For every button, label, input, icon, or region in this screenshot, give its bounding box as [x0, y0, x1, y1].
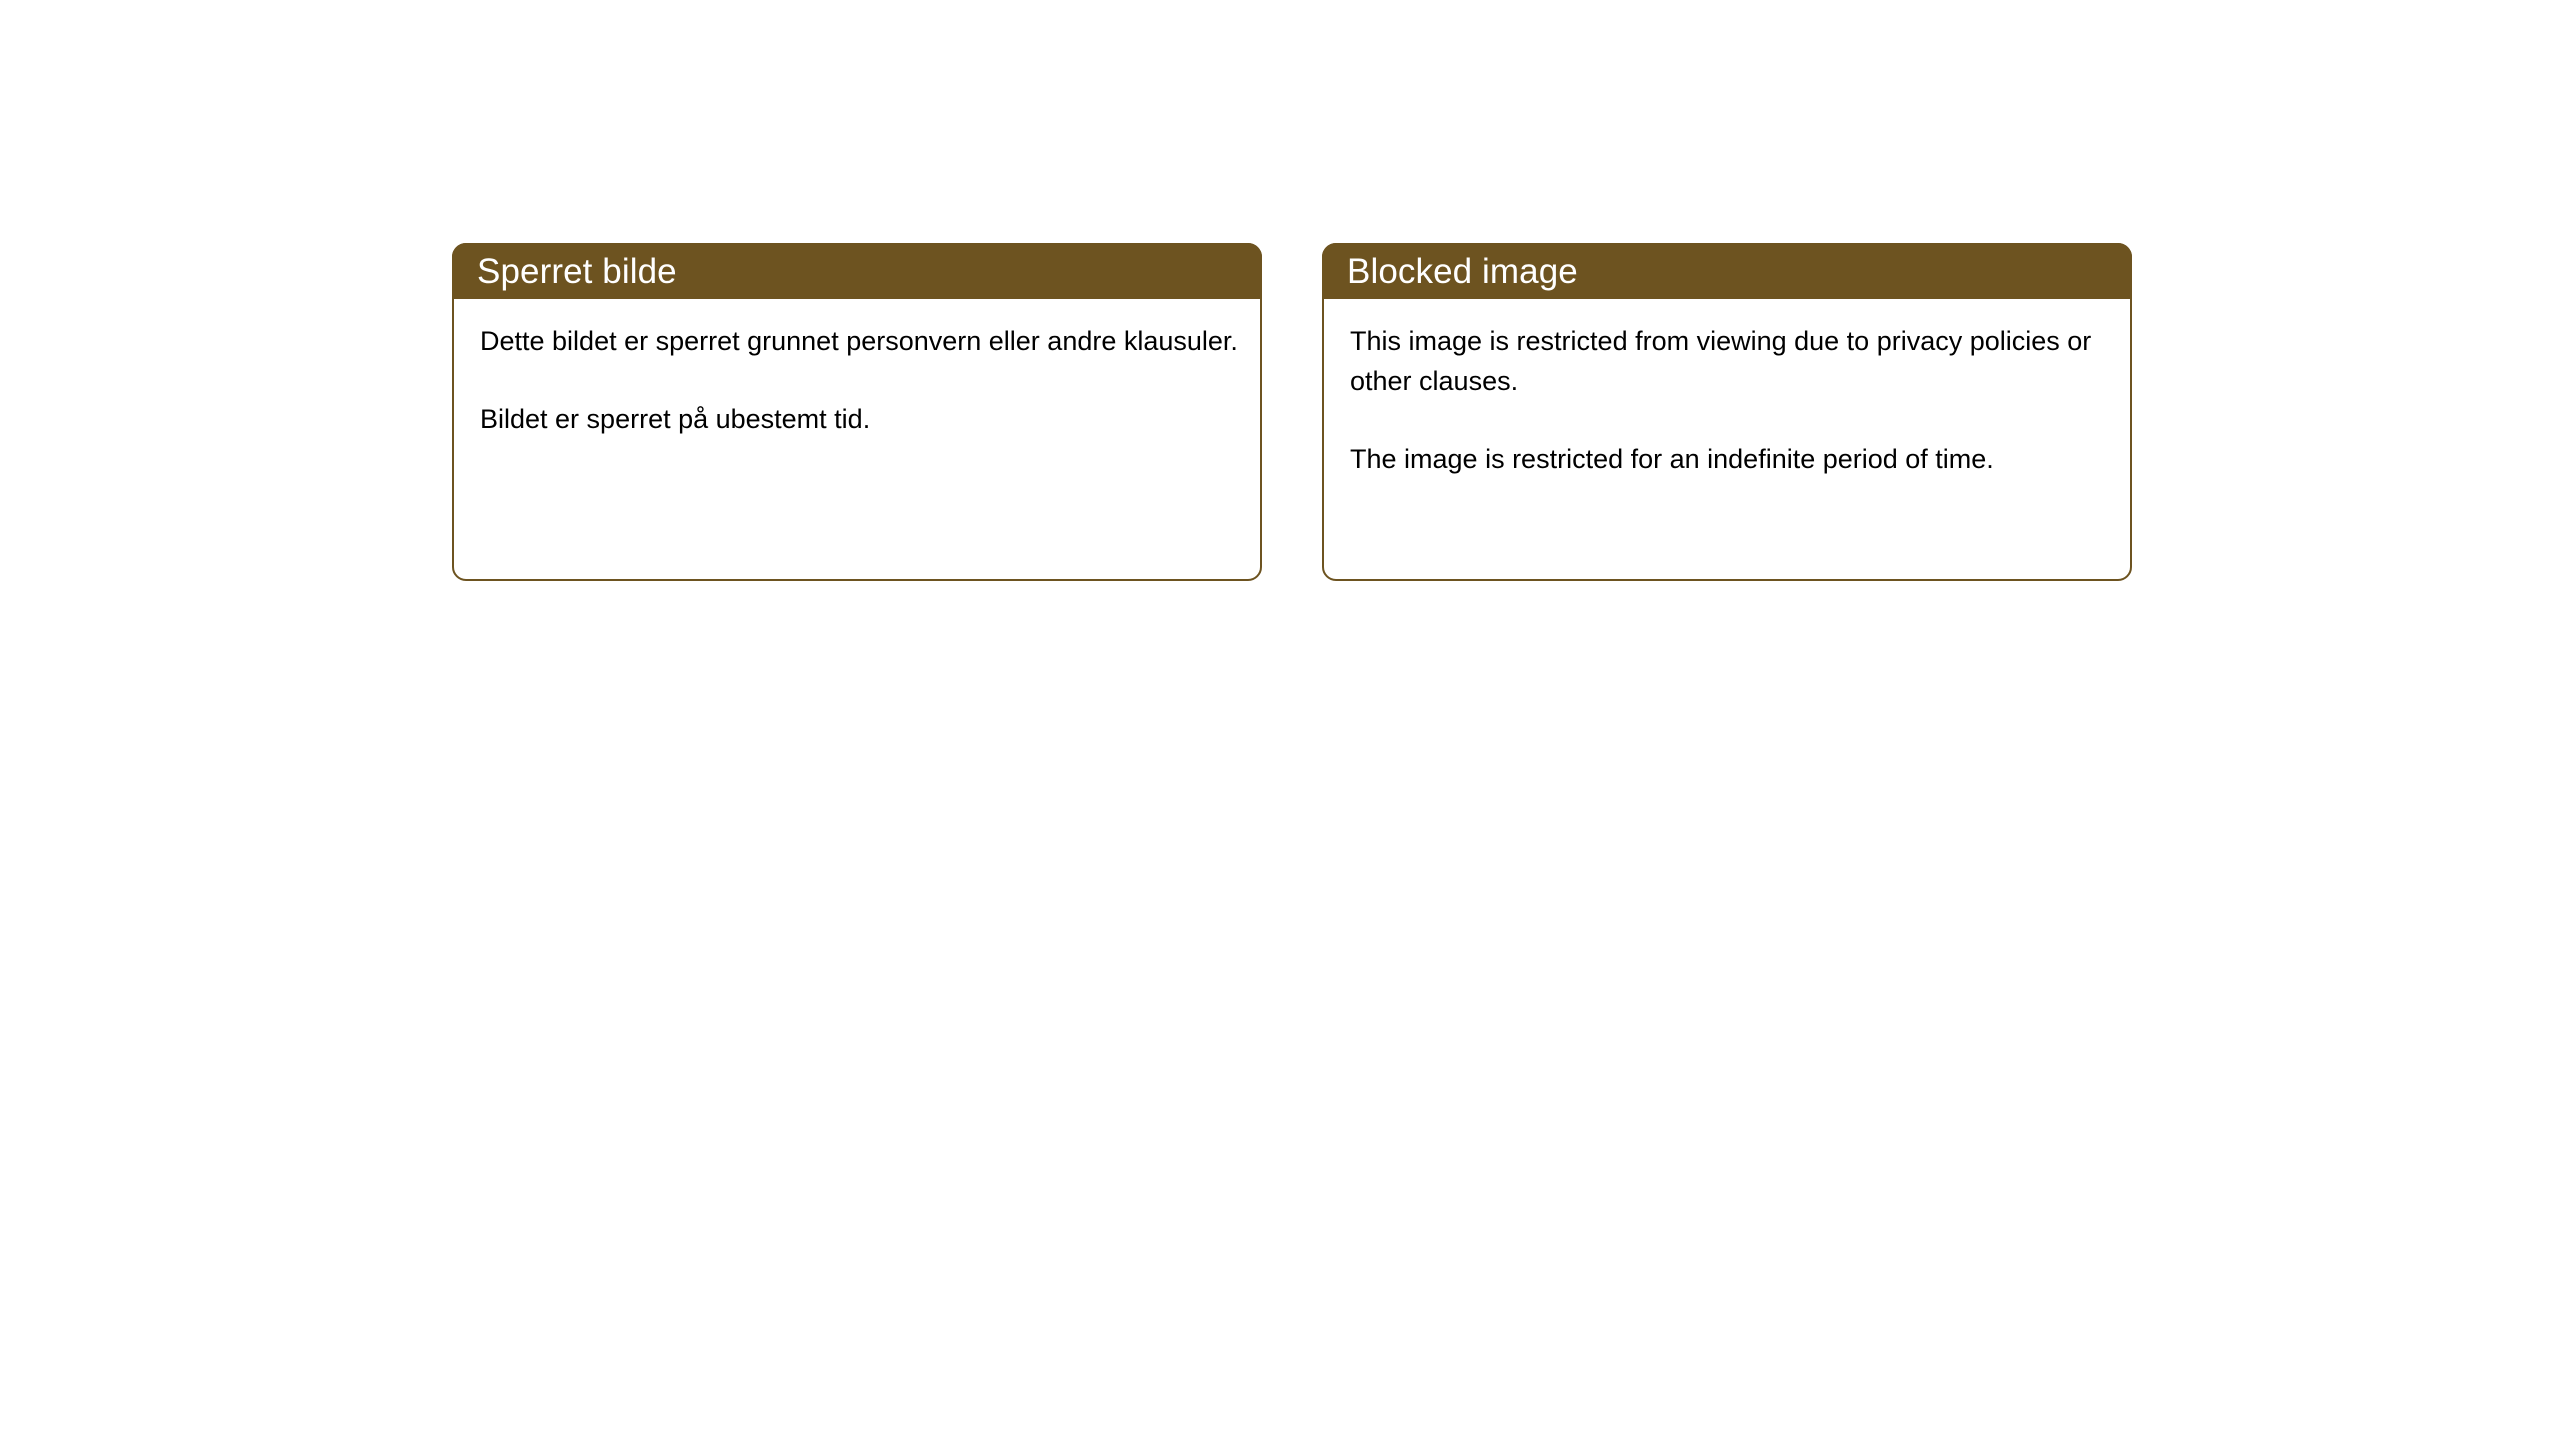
- notice-paragraph-duration-en: The image is restricted for an indefinit…: [1350, 439, 2108, 479]
- notice-card-title-no: Sperret bilde: [452, 254, 677, 289]
- notice-card-body-no: Dette bildet er sperret grunnet personve…: [454, 299, 1264, 439]
- notice-paragraph-duration-no: Bildet er sperret på ubestemt tid.: [480, 399, 1238, 439]
- notice-paragraph-reason-en: This image is restricted from viewing du…: [1350, 321, 2108, 401]
- page-root: Sperret bilde Dette bildet er sperret gr…: [0, 0, 2560, 1440]
- notice-paragraph-reason-no: Dette bildet er sperret grunnet personve…: [480, 321, 1238, 361]
- notice-card-header-en: Blocked image: [1322, 243, 2132, 299]
- blocked-image-notice-card-no: Sperret bilde Dette bildet er sperret gr…: [452, 243, 1262, 581]
- notice-card-title-en: Blocked image: [1322, 254, 1578, 289]
- notice-card-header-no: Sperret bilde: [452, 243, 1262, 299]
- blocked-image-notice-card-en: Blocked image This image is restricted f…: [1322, 243, 2132, 581]
- notice-card-body-en: This image is restricted from viewing du…: [1324, 299, 2134, 479]
